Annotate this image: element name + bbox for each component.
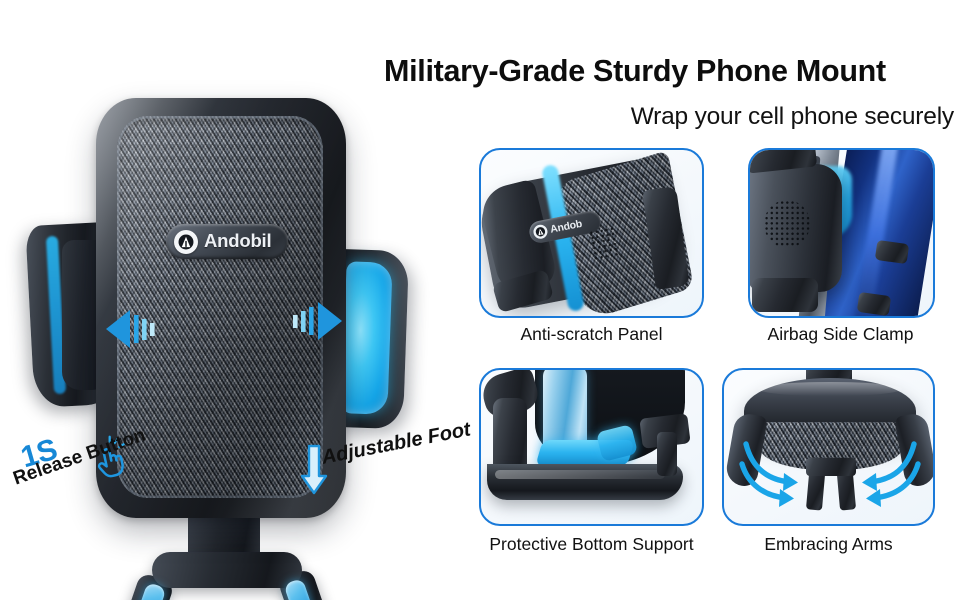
product-marketing-image: Military-Grade Sturdy Phone Mount Wrap y… [0,0,970,600]
andobil-a-logo-icon [174,230,198,254]
mount-foot-lower [857,292,891,316]
right-arm-motion-arrow-icon [286,298,348,344]
feature-panel-airbag-side-clamp [748,148,935,318]
brand-name: Andobil [204,232,271,251]
feature-panel-embracing-arms [722,368,935,526]
feature-caption-embracing-arms: Embracing Arms [722,536,935,554]
embrace-arrow-left-icon [740,436,812,508]
brand-logo-badge: Andobil [166,224,288,259]
arms-dome-highlight [758,382,902,396]
feature-caption-airbag-side-clamp: Airbag Side Clamp [733,326,948,344]
right-arm-glow-pad [341,261,392,415]
airbag-vent-dots [764,200,810,248]
feature-panel-anti-scratch-panel: Andob [479,148,704,318]
support-lip-highlight [495,470,665,479]
feature-caption-protective-bottom-support: Protective Bottom Support [466,536,717,554]
support-left-column [493,398,527,474]
mount-foot-upper [875,240,909,264]
clamp-vent-dots [588,226,619,260]
left-arm-motion-arrow-icon [100,306,162,352]
clamp-lower-body [752,278,818,312]
product-hero-image: Andobil [0,70,470,600]
foot-cross-bar [152,552,302,588]
feature-panel-protective-bottom-support [479,368,704,526]
andobil-a-logo-icon [532,224,548,240]
page-subtitle: Wrap your cell phone securely [390,104,954,131]
panel-brand-name: Andob [549,219,583,235]
embrace-arrow-right-icon [848,436,920,508]
support-right-post [657,432,677,476]
adjustable-foot-assembly [124,542,330,600]
feature-caption-anti-scratch-panel: Anti-scratch Panel [479,326,704,344]
